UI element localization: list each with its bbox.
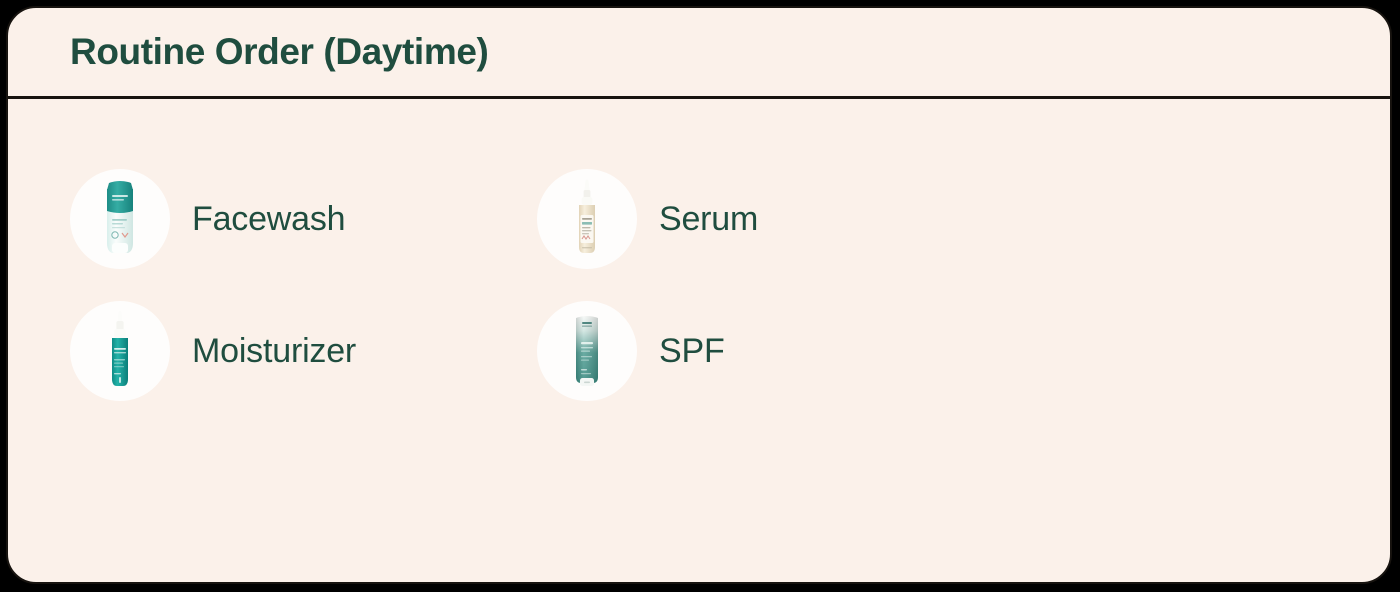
routine-step-label: Moisturizer — [192, 332, 356, 371]
spf-thumbnail — [537, 301, 637, 401]
serum-dropper-bottle-icon — [555, 177, 619, 261]
routine-step-facewash[interactable]: Facewash — [70, 153, 537, 285]
routine-step-label: Facewash — [192, 200, 345, 239]
moisturizer-dropper-bottle-icon — [88, 309, 152, 393]
routine-step-moisturizer[interactable]: Moisturizer — [70, 285, 537, 417]
moisturizer-thumbnail — [70, 301, 170, 401]
card-header: Routine Order (Daytime) — [8, 8, 1390, 99]
facewash-tube-icon — [88, 177, 152, 261]
routine-step-spf[interactable]: SPF — [537, 285, 1004, 417]
routine-order-card: Routine Order (Daytime) — [6, 6, 1392, 584]
routine-steps-grid: Facewash — [8, 153, 1390, 417]
facewash-thumbnail — [70, 169, 170, 269]
serum-thumbnail — [537, 169, 637, 269]
card-body: Facewash — [8, 99, 1390, 582]
routine-step-label: SPF — [659, 332, 725, 371]
routine-step-label: Serum — [659, 200, 758, 239]
routine-step-serum[interactable]: Serum — [537, 153, 1004, 285]
page-title: Routine Order (Daytime) — [70, 31, 488, 73]
spf-tube-icon — [555, 309, 619, 393]
